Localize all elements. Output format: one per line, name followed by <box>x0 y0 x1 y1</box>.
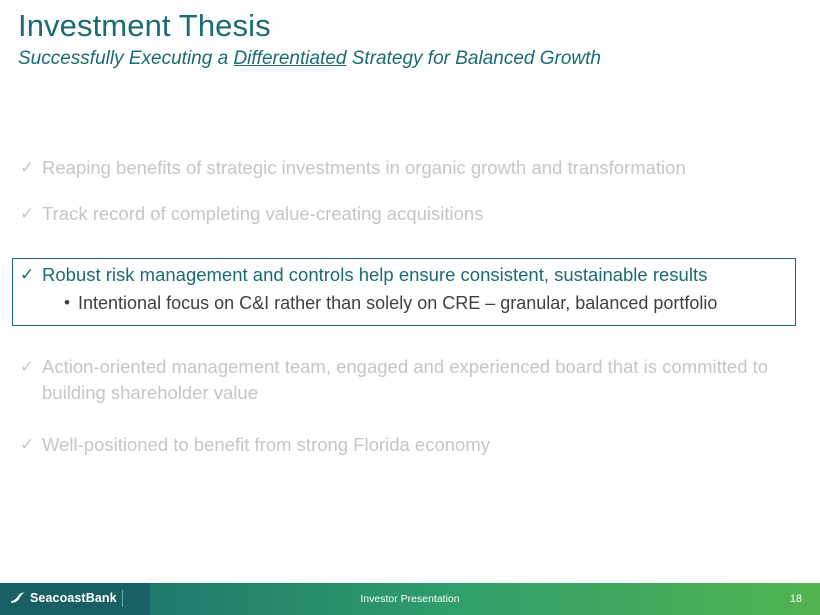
page-title: Investment Thesis <box>18 8 271 44</box>
list-item-label: Reaping benefits of strategic investment… <box>36 155 686 181</box>
sub-list-item-label: Intentional focus on C&I rather than sol… <box>78 290 717 316</box>
footer: SeacoastBank Investor Presentation 18 <box>0 583 820 615</box>
list-item: ✓ Well-positioned to benefit from strong… <box>14 432 806 458</box>
highlighted-item: ✓ Robust risk management and controls he… <box>14 262 804 316</box>
footer-center-text: Investor Presentation <box>0 583 820 615</box>
slide: Investment Thesis Successfully Executing… <box>0 0 820 615</box>
list-item-label: Robust risk management and controls help… <box>36 262 707 288</box>
check-icon: ✓ <box>14 354 36 380</box>
bullet-dot-icon: • <box>64 290 78 316</box>
check-icon: ✓ <box>14 155 36 181</box>
sub-list-item: • Intentional focus on C&I rather than s… <box>14 290 804 316</box>
list-item-label: Well-positioned to benefit from strong F… <box>36 432 490 458</box>
page-subtitle: Successfully Executing a Differentiated … <box>18 48 601 70</box>
page-number: 18 <box>790 583 802 615</box>
subtitle-part-before: Successfully Executing a <box>18 48 233 69</box>
list-item: ✓ Track record of completing value-creat… <box>14 201 806 227</box>
list-item-label: Track record of completing value-creatin… <box>36 201 483 227</box>
check-icon: ✓ <box>14 432 36 458</box>
subtitle-part-underlined: Differentiated <box>233 48 346 69</box>
check-icon: ✓ <box>14 201 36 227</box>
list-item: ✓ Reaping benefits of strategic investme… <box>14 155 806 181</box>
list-item: ✓ Action-oriented management team, engag… <box>14 354 806 406</box>
list-item: ✓ Robust risk management and controls he… <box>14 262 804 288</box>
list-item-label: Action-oriented management team, engaged… <box>36 354 782 406</box>
subtitle-part-after: Strategy for Balanced Growth <box>346 48 601 69</box>
check-icon: ✓ <box>14 262 36 288</box>
